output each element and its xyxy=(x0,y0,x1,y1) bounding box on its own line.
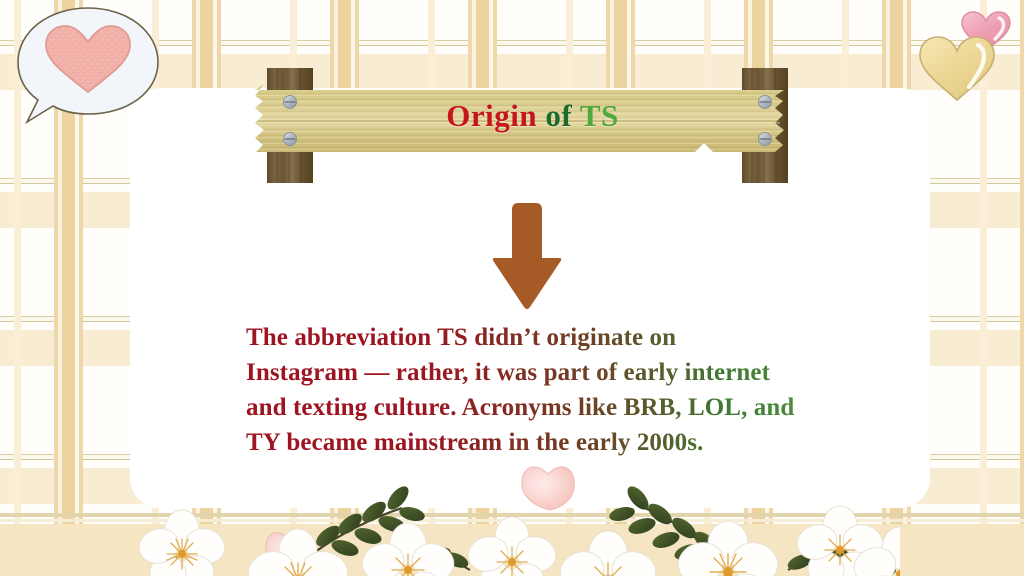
title-part-of: of xyxy=(537,98,580,133)
body-line-4: TY became mainstream in the early 2000s. xyxy=(246,425,896,460)
sign-post-right-lower xyxy=(742,152,788,183)
sign-post-left-lower xyxy=(267,152,313,183)
screw-bottom-left xyxy=(284,133,297,146)
body-line-3: and texting culture. Acronyms like BRB, … xyxy=(246,390,896,425)
plaid-bottom-rule-dark xyxy=(0,513,1024,517)
down-arrow xyxy=(492,203,562,313)
post-lower-grain xyxy=(277,152,776,183)
title-part-ts: TS xyxy=(580,98,619,133)
slide-title: Origin of TS xyxy=(255,98,810,134)
body-line-1: The abbreviation TS didn’t originate on xyxy=(246,320,896,355)
slide-root: Origin of TS The abbreviation TS didn’t … xyxy=(0,0,1024,576)
arrow-shape xyxy=(493,203,562,309)
screw-bottom-right xyxy=(759,133,772,146)
wooden-signboard: Origin of TS xyxy=(255,68,810,183)
plaid-bottom-rule-light xyxy=(0,519,1024,522)
plaid-bottom-band xyxy=(0,524,1024,576)
down-arrow-icon xyxy=(492,203,562,313)
body-paragraph: The abbreviation TS didn’t originate on … xyxy=(246,320,896,460)
title-part-origin: Origin xyxy=(446,98,537,133)
body-line-2: Instagram — rather, it was part of early… xyxy=(246,355,896,390)
